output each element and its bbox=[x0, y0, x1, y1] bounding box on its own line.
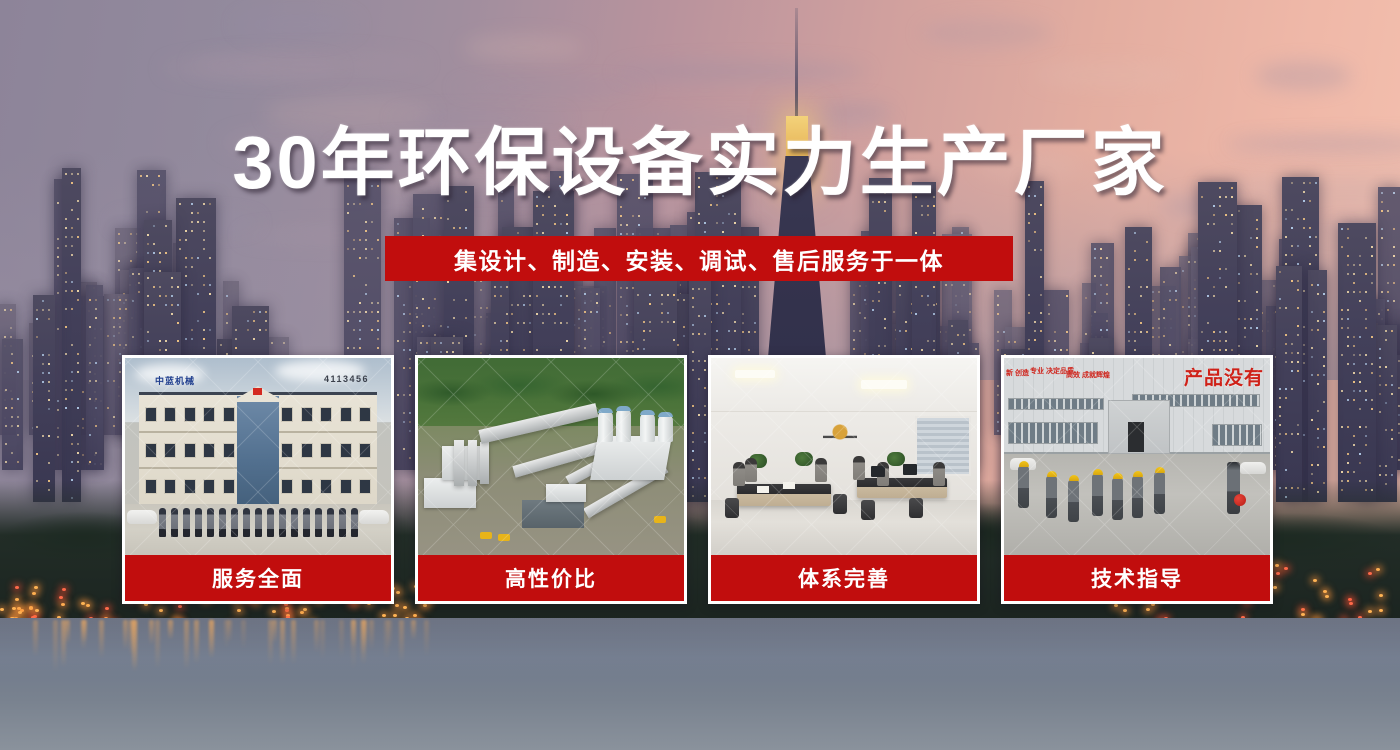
window-light bbox=[872, 309, 874, 311]
window-light bbox=[5, 425, 7, 427]
window-light bbox=[397, 232, 399, 234]
feature-card[interactable]: 产品没有 新 创造 专业 决定品质 高效 成就辉煌 bbox=[1001, 355, 1273, 604]
window-light bbox=[1128, 304, 1130, 306]
window-light bbox=[480, 316, 482, 318]
window-light bbox=[511, 304, 513, 306]
window-light bbox=[1297, 280, 1299, 282]
window-light bbox=[359, 302, 361, 304]
chair bbox=[725, 498, 739, 518]
window-light bbox=[1034, 330, 1036, 332]
window-light bbox=[1385, 366, 1387, 368]
window-light bbox=[649, 303, 651, 305]
window-light bbox=[566, 340, 568, 342]
window-light bbox=[734, 213, 736, 215]
window-light bbox=[1250, 237, 1252, 239]
window-light bbox=[1385, 339, 1387, 341]
window-light bbox=[554, 214, 556, 216]
window-light bbox=[933, 340, 935, 342]
window-light bbox=[1315, 254, 1317, 256]
hard-hat bbox=[1093, 469, 1103, 475]
building bbox=[1308, 270, 1326, 502]
window-light bbox=[1128, 268, 1130, 270]
window-light bbox=[453, 299, 455, 301]
window-light bbox=[1273, 285, 1275, 287]
window-light bbox=[480, 307, 482, 309]
feature-card[interactable]: 中蓝机械 4113456 服务全面 bbox=[122, 355, 394, 604]
water-reflection bbox=[123, 620, 128, 650]
building bbox=[33, 295, 54, 502]
card-caption-text: 高性价比 bbox=[505, 563, 597, 593]
window-light bbox=[1163, 335, 1165, 337]
window-light bbox=[428, 307, 430, 309]
building bbox=[2, 339, 23, 470]
window-light bbox=[1393, 264, 1395, 266]
window-light bbox=[523, 295, 525, 297]
window-light bbox=[1225, 349, 1227, 351]
window-light bbox=[1387, 291, 1389, 293]
window-light bbox=[113, 335, 115, 337]
chair bbox=[833, 494, 847, 514]
window-light bbox=[1378, 313, 1380, 315]
hard-hat bbox=[1047, 471, 1057, 477]
subtitle-banner: 集设计、制造、安装、调试、售后服务于一体 bbox=[385, 236, 1013, 281]
window-light bbox=[1291, 280, 1293, 282]
window-light bbox=[536, 349, 538, 351]
window-light bbox=[853, 294, 855, 296]
window-light bbox=[643, 348, 645, 350]
silo-top bbox=[658, 412, 673, 417]
window-light bbox=[197, 257, 199, 259]
window-light bbox=[1393, 255, 1395, 257]
window-light bbox=[1303, 380, 1305, 382]
window-light bbox=[963, 343, 965, 345]
window-light bbox=[1054, 340, 1056, 342]
window-light bbox=[523, 304, 525, 306]
window-light bbox=[89, 461, 91, 463]
window-light bbox=[1238, 210, 1240, 212]
window-light bbox=[899, 330, 901, 332]
window-light bbox=[632, 215, 634, 217]
window-light bbox=[1353, 336, 1355, 338]
window-light bbox=[1034, 231, 1036, 233]
window-light bbox=[95, 317, 97, 319]
window-light bbox=[710, 204, 712, 206]
window-light bbox=[185, 239, 187, 241]
hard-hat bbox=[1155, 467, 1165, 473]
window-light bbox=[1028, 339, 1030, 341]
window-light bbox=[209, 329, 211, 331]
window-light bbox=[1256, 318, 1258, 320]
window-light bbox=[1219, 277, 1221, 279]
window-light bbox=[1238, 273, 1240, 275]
window-light bbox=[1365, 237, 1367, 239]
water-reflection bbox=[209, 620, 214, 659]
window-light bbox=[409, 313, 411, 315]
window-light bbox=[927, 295, 929, 297]
window-light bbox=[397, 340, 399, 342]
window-light bbox=[1279, 406, 1281, 408]
window-light bbox=[1285, 218, 1287, 220]
window-light bbox=[1134, 259, 1136, 261]
window-light bbox=[197, 212, 199, 214]
window-light bbox=[125, 299, 127, 301]
window-light bbox=[107, 299, 109, 301]
window-light bbox=[1317, 437, 1319, 439]
water-reflection bbox=[168, 620, 173, 640]
window-light bbox=[1169, 344, 1171, 346]
window-light bbox=[1034, 213, 1036, 215]
window-light bbox=[878, 345, 880, 347]
window-light bbox=[147, 304, 149, 306]
window-light bbox=[48, 318, 50, 320]
window-light bbox=[1054, 349, 1056, 351]
window-light bbox=[107, 407, 109, 409]
factory-side-door bbox=[1128, 422, 1144, 452]
window-light bbox=[426, 342, 428, 344]
window-light bbox=[1297, 245, 1299, 247]
window-light bbox=[71, 308, 73, 310]
window-light bbox=[42, 309, 44, 311]
shore-light bbox=[32, 592, 36, 595]
shore-light bbox=[86, 604, 90, 607]
window-light bbox=[698, 315, 700, 317]
window-light bbox=[153, 225, 155, 227]
shore-light bbox=[1368, 572, 1372, 575]
staff-member bbox=[279, 508, 286, 537]
window-light bbox=[1297, 424, 1299, 426]
window-light bbox=[1303, 353, 1305, 355]
window-light bbox=[36, 309, 38, 311]
silo-top bbox=[616, 406, 631, 411]
window-light bbox=[371, 302, 373, 304]
window-light bbox=[82, 391, 84, 393]
window-light bbox=[1250, 327, 1252, 329]
window-light bbox=[1387, 300, 1389, 302]
window-light bbox=[57, 409, 59, 411]
window-light bbox=[147, 243, 149, 245]
window-light bbox=[48, 363, 50, 365]
window-light bbox=[95, 407, 97, 409]
window-light bbox=[77, 443, 79, 445]
water-reflection bbox=[339, 620, 344, 658]
window-light bbox=[434, 298, 436, 300]
window-light bbox=[1291, 227, 1293, 229]
window-light bbox=[1285, 352, 1287, 354]
building bbox=[1276, 266, 1301, 502]
window-light bbox=[203, 275, 205, 277]
window-light bbox=[1028, 222, 1030, 224]
window-light bbox=[734, 330, 736, 332]
window-light bbox=[1219, 205, 1221, 207]
window-light bbox=[36, 453, 38, 455]
window-light bbox=[1391, 438, 1393, 440]
window-light bbox=[1100, 257, 1102, 259]
water-reflection bbox=[351, 620, 356, 648]
window-light bbox=[1100, 248, 1102, 250]
window-light bbox=[1188, 261, 1190, 263]
window-light bbox=[1359, 255, 1361, 257]
window-light bbox=[1347, 291, 1349, 293]
window-light bbox=[899, 285, 901, 287]
flag bbox=[253, 388, 262, 395]
window-light bbox=[153, 243, 155, 245]
window-light bbox=[11, 362, 13, 364]
window-light bbox=[11, 398, 13, 400]
window-light bbox=[1238, 300, 1240, 302]
water-reflection bbox=[184, 620, 189, 670]
parked-car bbox=[127, 510, 157, 524]
water-reflection bbox=[363, 620, 368, 648]
window-light bbox=[359, 239, 361, 241]
window-light bbox=[1040, 321, 1042, 323]
window-light bbox=[77, 371, 79, 373]
window-light bbox=[191, 221, 193, 223]
window-light bbox=[997, 349, 999, 351]
window-light bbox=[748, 349, 750, 351]
window-light bbox=[584, 293, 586, 295]
worker bbox=[1068, 480, 1079, 522]
window-light bbox=[1219, 250, 1221, 252]
window-light bbox=[884, 327, 886, 329]
window-light bbox=[1225, 268, 1227, 270]
window-light bbox=[179, 239, 181, 241]
window-light bbox=[692, 288, 694, 290]
window-light bbox=[1256, 327, 1258, 329]
window-light bbox=[422, 325, 424, 327]
window-light bbox=[1291, 388, 1293, 390]
window-light bbox=[440, 325, 442, 327]
window-light bbox=[452, 351, 454, 353]
window-light bbox=[1371, 282, 1373, 284]
staff-member bbox=[303, 508, 310, 537]
window-light bbox=[77, 299, 79, 301]
window-light bbox=[1297, 361, 1299, 363]
window-light bbox=[1317, 383, 1319, 385]
feature-card[interactable]: 高性价比 bbox=[415, 355, 687, 604]
window-light bbox=[171, 277, 173, 279]
window-light bbox=[1201, 331, 1203, 333]
window-light bbox=[138, 273, 140, 275]
window-light bbox=[1311, 329, 1313, 331]
window-light bbox=[963, 284, 965, 286]
window-light bbox=[637, 312, 639, 314]
window-light bbox=[1146, 241, 1148, 243]
window-light bbox=[65, 389, 67, 391]
window-light bbox=[474, 334, 476, 336]
window-light bbox=[1048, 340, 1050, 342]
window-light bbox=[506, 313, 508, 315]
window-light bbox=[1285, 334, 1287, 336]
window-light bbox=[506, 322, 508, 324]
window-light bbox=[95, 398, 97, 400]
staff-member bbox=[183, 508, 190, 537]
window-light bbox=[42, 354, 44, 356]
window-light bbox=[661, 312, 663, 314]
factory-slogan-text: 产品没有 bbox=[1184, 363, 1264, 390]
window-light bbox=[1359, 426, 1361, 428]
window-light bbox=[1054, 331, 1056, 333]
window-light bbox=[1393, 246, 1395, 248]
window-light bbox=[584, 338, 586, 340]
window-light bbox=[1365, 291, 1367, 293]
window-light bbox=[500, 295, 502, 297]
window-light bbox=[353, 239, 355, 241]
window-light bbox=[1152, 327, 1154, 329]
window-light bbox=[1128, 313, 1130, 315]
window-light bbox=[1219, 349, 1221, 351]
water-reflection bbox=[268, 620, 273, 665]
window-light bbox=[1094, 293, 1096, 295]
window-light bbox=[1391, 456, 1393, 458]
window-light bbox=[1379, 348, 1381, 350]
window-light bbox=[951, 284, 953, 286]
excavator bbox=[654, 516, 666, 523]
window-light bbox=[1341, 390, 1343, 392]
window-light bbox=[1381, 228, 1383, 230]
window-light bbox=[147, 277, 149, 279]
window-light bbox=[165, 349, 167, 351]
window-light bbox=[416, 316, 418, 318]
window-light bbox=[71, 209, 73, 211]
window-light bbox=[89, 344, 91, 346]
window-light bbox=[500, 286, 502, 288]
window-light bbox=[1256, 237, 1258, 239]
window-light bbox=[1353, 282, 1355, 284]
window-light bbox=[65, 272, 67, 274]
window-light bbox=[1100, 284, 1102, 286]
window-light bbox=[377, 311, 379, 313]
window-light bbox=[118, 260, 120, 262]
building-phone-text: 4113456 bbox=[324, 374, 369, 384]
window-light bbox=[191, 266, 193, 268]
window-light bbox=[500, 349, 502, 351]
window-light bbox=[159, 295, 161, 297]
window-light bbox=[197, 293, 199, 295]
window-light bbox=[347, 212, 349, 214]
worker bbox=[1112, 478, 1123, 520]
window-light bbox=[529, 322, 531, 324]
office-worker bbox=[933, 462, 945, 486]
window-light bbox=[677, 344, 679, 346]
window-light bbox=[1347, 318, 1349, 320]
window-light bbox=[377, 347, 379, 349]
window-light bbox=[119, 344, 121, 346]
window-light bbox=[1256, 309, 1258, 311]
window-light bbox=[265, 311, 267, 313]
window-light bbox=[191, 329, 193, 331]
window-light bbox=[1213, 223, 1215, 225]
window-light bbox=[1353, 381, 1355, 383]
window-light bbox=[434, 217, 436, 219]
window-light bbox=[542, 322, 544, 324]
window-light bbox=[265, 320, 267, 322]
window-light bbox=[57, 427, 59, 429]
window-light bbox=[1213, 340, 1215, 342]
window-light bbox=[1303, 200, 1305, 202]
window-light bbox=[692, 333, 694, 335]
window-light bbox=[197, 320, 199, 322]
window-light bbox=[1323, 356, 1325, 358]
window-light bbox=[159, 340, 161, 342]
window-light bbox=[377, 239, 379, 241]
water-reflection bbox=[384, 620, 389, 659]
window-light bbox=[65, 326, 67, 328]
window-light bbox=[649, 321, 651, 323]
window-light bbox=[203, 239, 205, 241]
window-light bbox=[1285, 361, 1287, 363]
window-light bbox=[1347, 453, 1349, 455]
window-light bbox=[1225, 340, 1227, 342]
window-light bbox=[1028, 213, 1030, 215]
paper bbox=[757, 486, 769, 493]
water-reflection bbox=[53, 620, 58, 672]
window-light bbox=[191, 230, 193, 232]
window-light bbox=[191, 203, 193, 205]
card-caption: 体系完善 bbox=[711, 555, 977, 601]
window-light bbox=[1391, 429, 1393, 431]
window-light bbox=[1040, 294, 1042, 296]
window-light bbox=[48, 381, 50, 383]
window-light bbox=[921, 205, 923, 207]
water-reflection bbox=[291, 620, 296, 664]
window-light bbox=[377, 257, 379, 259]
window-light bbox=[1371, 336, 1373, 338]
window-light bbox=[566, 232, 568, 234]
excavator bbox=[480, 532, 492, 539]
window-light bbox=[422, 217, 424, 219]
window-light bbox=[77, 353, 79, 355]
window-light bbox=[927, 205, 929, 207]
window-light bbox=[365, 257, 367, 259]
window-light bbox=[698, 333, 700, 335]
staff-member bbox=[351, 508, 358, 537]
window-light bbox=[1085, 297, 1087, 299]
window-light bbox=[113, 317, 115, 319]
window-light bbox=[77, 407, 79, 409]
hard-hat bbox=[1133, 471, 1143, 477]
window-light bbox=[1194, 261, 1196, 263]
window-light bbox=[371, 329, 373, 331]
window-light bbox=[65, 380, 67, 382]
window-light bbox=[226, 313, 228, 315]
staff-member bbox=[231, 508, 238, 537]
window-light bbox=[1309, 236, 1311, 238]
window-light bbox=[1106, 302, 1108, 304]
window-light bbox=[107, 362, 109, 364]
window-light bbox=[235, 347, 237, 349]
wall-small-text-right: 高效 成就辉煌 bbox=[1066, 372, 1110, 381]
window-light bbox=[1385, 429, 1387, 431]
tower-spire bbox=[795, 8, 798, 118]
feature-card[interactable]: 体系完善 bbox=[708, 355, 980, 604]
window-light bbox=[1194, 306, 1196, 308]
window-light bbox=[71, 371, 73, 373]
window-light bbox=[132, 273, 134, 275]
window-light bbox=[1353, 435, 1355, 437]
window-light bbox=[1315, 236, 1317, 238]
window-light bbox=[124, 242, 126, 244]
window-light bbox=[677, 299, 679, 301]
window-light bbox=[872, 300, 874, 302]
window-light bbox=[17, 461, 19, 463]
window-light bbox=[119, 308, 121, 310]
window-light bbox=[1341, 327, 1343, 329]
window-light bbox=[742, 286, 744, 288]
page-title: 30年环保设备实力生产厂家 bbox=[0, 126, 1400, 200]
window-light bbox=[1279, 388, 1281, 390]
window-light bbox=[1371, 408, 1373, 410]
window-light bbox=[584, 320, 586, 322]
